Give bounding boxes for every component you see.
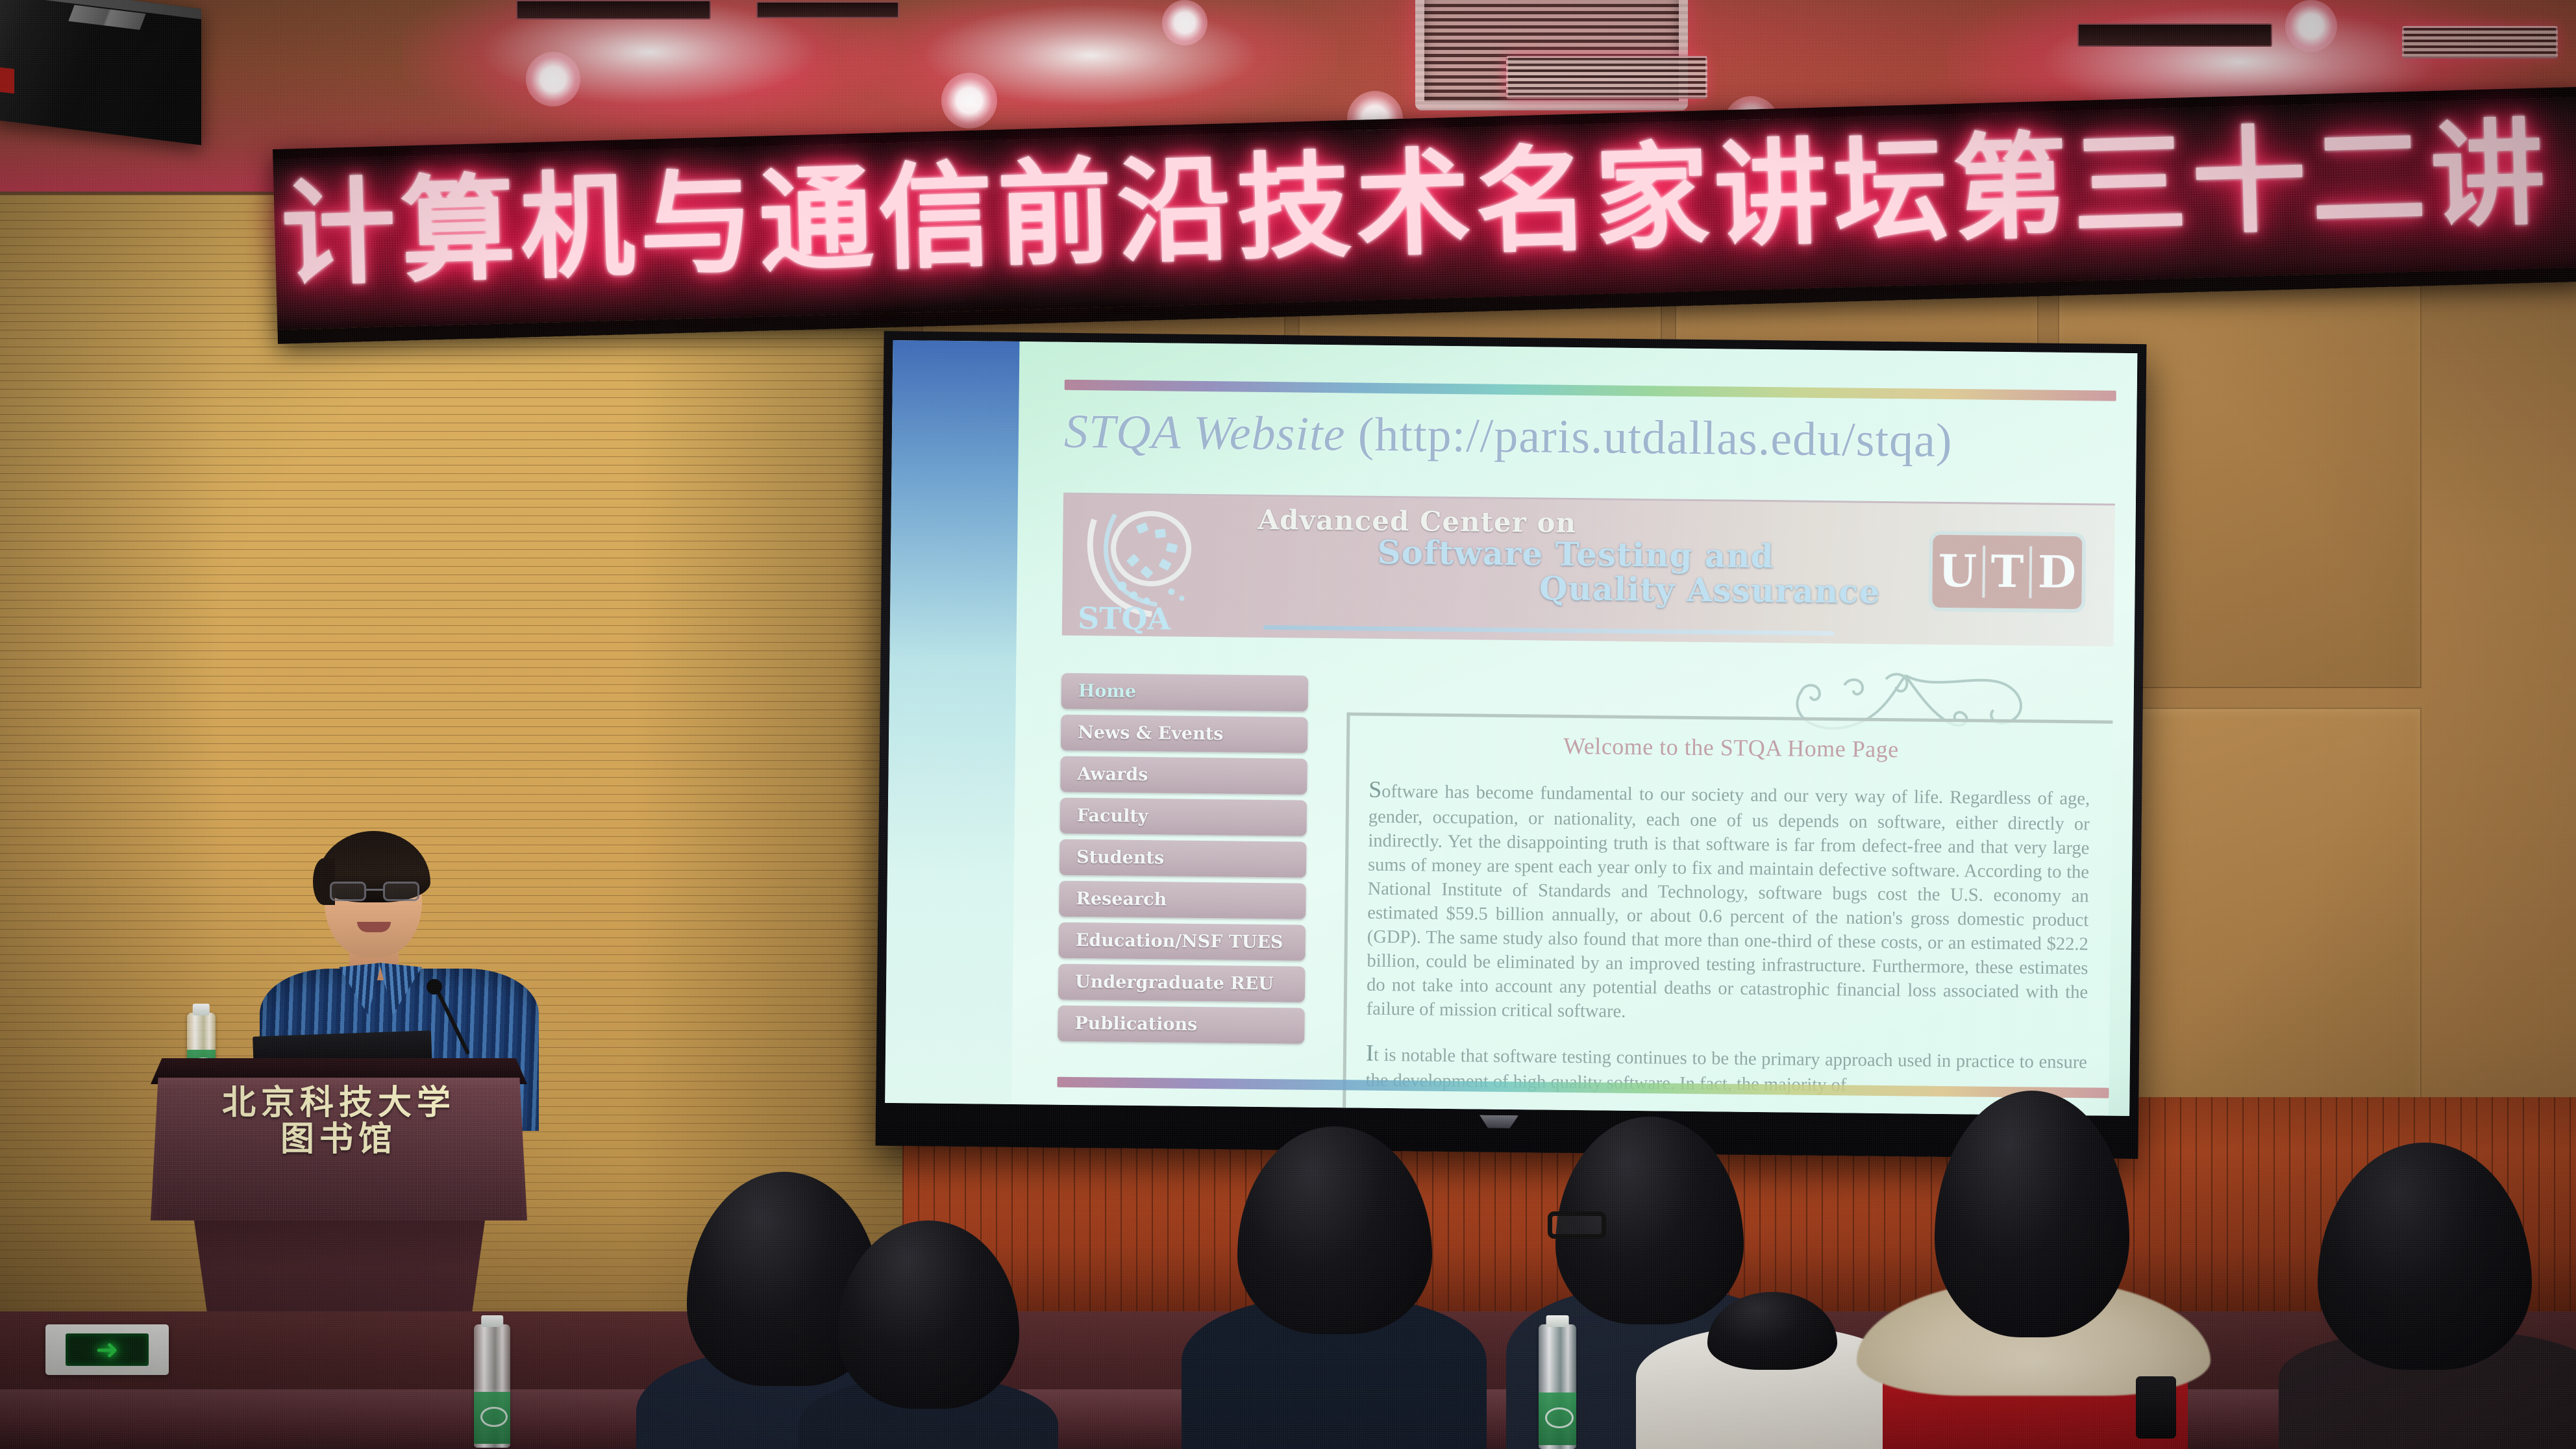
projection-screen-frame: STQA Website (http://paris.utdallas.edu/…	[875, 331, 2146, 1159]
ceiling-lamp	[1162, 0, 1207, 45]
lens-right	[383, 882, 419, 901]
content-heading: Welcome to the STQA Home Page	[1350, 730, 2112, 765]
ceiling-light-slot	[756, 1, 899, 18]
slide-title-url: (http://paris.utdallas.edu/stqa)	[1357, 408, 1953, 468]
drop-cap: S	[1368, 776, 1381, 802]
audience-head	[1935, 1091, 2129, 1337]
nav-label: Publications	[1074, 1013, 1197, 1035]
podium-line-1: 北京科技大学	[151, 1085, 527, 1121]
bottle-label	[474, 1392, 510, 1444]
eyeglasses-icon	[330, 882, 419, 901]
nav-label: Research	[1076, 889, 1167, 910]
stqa-logo-text: STQA	[1078, 601, 1172, 635]
bottle-cap	[193, 1004, 210, 1015]
utd-divider	[2029, 546, 2033, 598]
nav-item-education-nsf-tues[interactable]: Education/NSF TUES	[1059, 923, 1306, 961]
banner-headings: Advanced Center on Software Testing and …	[1257, 506, 1894, 609]
content-panel: Welcome to the STQA Home Page Software h…	[1343, 712, 2112, 1116]
nav-label: News & Events	[1078, 723, 1224, 744]
audience-head	[1707, 1292, 1837, 1370]
nav-item-news-events[interactable]: News & Events	[1061, 715, 1308, 753]
presentation-slide: STQA Website (http://paris.utdallas.edu/…	[1011, 341, 2137, 1116]
nav-label: Faculty	[1077, 806, 1148, 826]
content-paragraph-1: Software has become fundamental to our s…	[1367, 774, 2090, 1029]
nav-label: Awards	[1077, 764, 1148, 785]
utd-letter-u: U	[1938, 549, 1977, 594]
slide-title: STQA Website (http://paris.utdallas.edu/…	[1064, 404, 2116, 471]
podium-line-2: 图书馆	[151, 1121, 527, 1158]
ac-vent	[2402, 26, 2558, 58]
drop-cap: I	[1366, 1040, 1374, 1066]
audience-head	[2318, 1143, 2532, 1370]
stqa-logo-icon: STQA	[1074, 500, 1244, 635]
paragraph-1-body: oftware has become fundamental to our so…	[1367, 782, 2090, 1022]
ceiling-lamp	[526, 52, 580, 106]
exit-arrow-icon: ➜	[95, 1336, 118, 1363]
lens-bridge	[366, 889, 383, 891]
bottle-cap	[481, 1315, 503, 1327]
water-bottle	[1539, 1324, 1576, 1449]
ceiling-light-slot	[2077, 23, 2272, 47]
desktop-left-strip	[885, 340, 1022, 1104]
slide-top-rule	[1065, 380, 2116, 401]
nav-label: Students	[1076, 847, 1164, 868]
stqa-site-banner: STQA Advanced Center on Software Testing…	[1062, 493, 2115, 647]
speaker-box-indicator	[0, 67, 14, 93]
nav-item-awards[interactable]: Awards	[1060, 756, 1307, 795]
audience-head	[837, 1220, 1019, 1409]
nav-item-students[interactable]: Students	[1059, 839, 1307, 878]
utd-letter-d: D	[2038, 550, 2077, 595]
nav-item-publications[interactable]: Publications	[1058, 1006, 1305, 1044]
nav-label: Home	[1078, 681, 1137, 702]
banner-underline	[1263, 625, 1835, 636]
microphone-capsule	[427, 979, 442, 995]
lens-left	[330, 882, 366, 901]
utd-letter-t: T	[1990, 550, 2024, 595]
site-nav: Home News & Events Awards Faculty Studen…	[1058, 673, 1308, 1050]
projection-screen: STQA Website (http://paris.utdallas.edu/…	[885, 340, 2137, 1116]
bottle-label	[1539, 1393, 1576, 1445]
slide-title-main: STQA Website	[1064, 405, 1346, 462]
audience-member	[1195, 1126, 1474, 1449]
nav-item-undergraduate-reu[interactable]: Undergraduate REU	[1058, 964, 1306, 1002]
microphone-arm	[432, 984, 470, 1055]
audience-member	[799, 1220, 1058, 1449]
bottle-cap	[1546, 1315, 1569, 1327]
ceiling-lamp	[2285, 0, 2337, 52]
audience-head	[1237, 1126, 1432, 1334]
smartphone	[2136, 1376, 2176, 1439]
banner-heading-3: Quality Assurance	[1257, 568, 1893, 609]
lecture-hall-photo: 计算机与通信前沿技术名家讲坛第三十二讲 STQA Website (http:/…	[0, 0, 2576, 1449]
water-bottle	[474, 1324, 510, 1448]
ceiling-light-slot	[516, 0, 711, 19]
exit-sign-window: ➜	[66, 1333, 149, 1366]
ac-vent	[1506, 56, 1707, 99]
utd-divider	[1982, 546, 1985, 598]
nav-item-research[interactable]: Research	[1059, 881, 1306, 919]
podium-inscription: 北京科技大学 图书馆	[151, 1085, 527, 1158]
exit-sign: ➜	[45, 1324, 169, 1375]
microphone-icon	[432, 984, 510, 1062]
speaker-mouth	[357, 922, 391, 932]
nav-item-home[interactable]: Home	[1061, 673, 1309, 712]
nav-label: Undergraduate REU	[1075, 972, 1274, 994]
nav-label: Education/NSF TUES	[1076, 930, 1283, 952]
audience-member	[2292, 1143, 2576, 1449]
ceiling-lamp	[941, 73, 997, 129]
nav-item-faculty[interactable]: Faculty	[1060, 798, 1307, 836]
utd-logo: U T D	[1932, 535, 2082, 609]
wall-speaker-box	[0, 0, 201, 145]
audience-eyeglasses-icon	[1548, 1211, 1606, 1239]
